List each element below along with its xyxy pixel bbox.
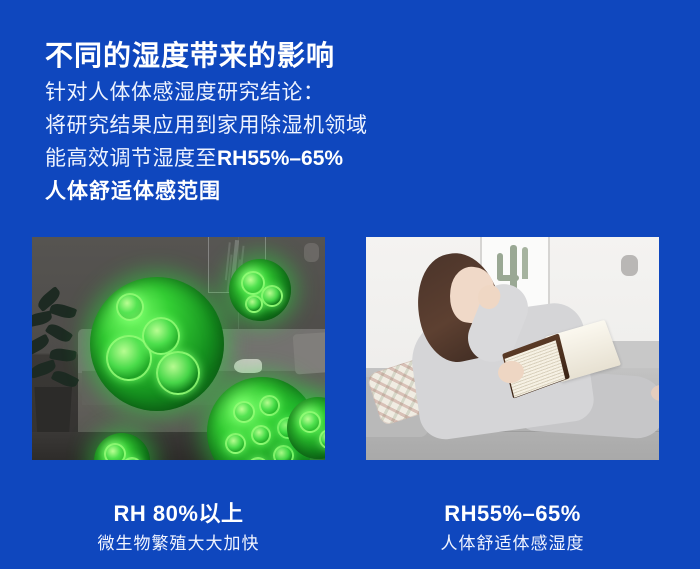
intro-line-3-normal: 能高效调节湿度至 [45,147,217,170]
humidity-range-value: RH55%–65% [217,147,343,170]
bird-ornament [234,359,262,373]
cactus-arm-right [522,247,528,279]
intro-line-3: 能高效调节湿度至RH55%–65% [45,142,368,175]
image-panel-comfort-humidity [366,237,659,460]
intro-line-4: 人体舒适体感范围 [45,175,368,208]
wall-device-light [621,255,638,276]
intro-paragraph: 针对人体体感湿度研究结论： 将研究结果应用到家用除湿机领域 能高效调节湿度至RH… [45,76,368,208]
intro-line-2: 将研究结果应用到家用除湿机领域 [45,109,368,142]
page-title: 不同的湿度带来的影响 [45,38,335,73]
caption-comfort-humidity: RH55%–65% 人体舒适体感湿度 [366,500,659,556]
microbe-sphere [229,259,291,321]
caption-subtitle: 人体舒适体感湿度 [366,532,659,556]
caption-title: RH55%–65% [366,500,659,528]
microbe-sphere [90,277,224,411]
intro-line-1: 针对人体体感湿度研究结论： [45,76,368,109]
cactus-branch [497,275,519,281]
sofa-cushion-dark [293,332,325,375]
caption-subtitle: 微生物繁殖大大加快 [32,532,325,556]
light-room-scene [366,237,659,460]
wall-device-dark [304,243,319,262]
dark-room-scene [32,237,325,460]
house-plant-dark [32,287,88,399]
poster-root: 不同的湿度带来的影响 针对人体体感湿度研究结论： 将研究结果应用到家用除湿机领域… [0,0,700,569]
caption-high-humidity: RH 80%以上 微生物繁殖大大加快 [32,500,325,556]
caption-title: RH 80%以上 [32,500,325,528]
image-panel-high-humidity [32,237,325,460]
